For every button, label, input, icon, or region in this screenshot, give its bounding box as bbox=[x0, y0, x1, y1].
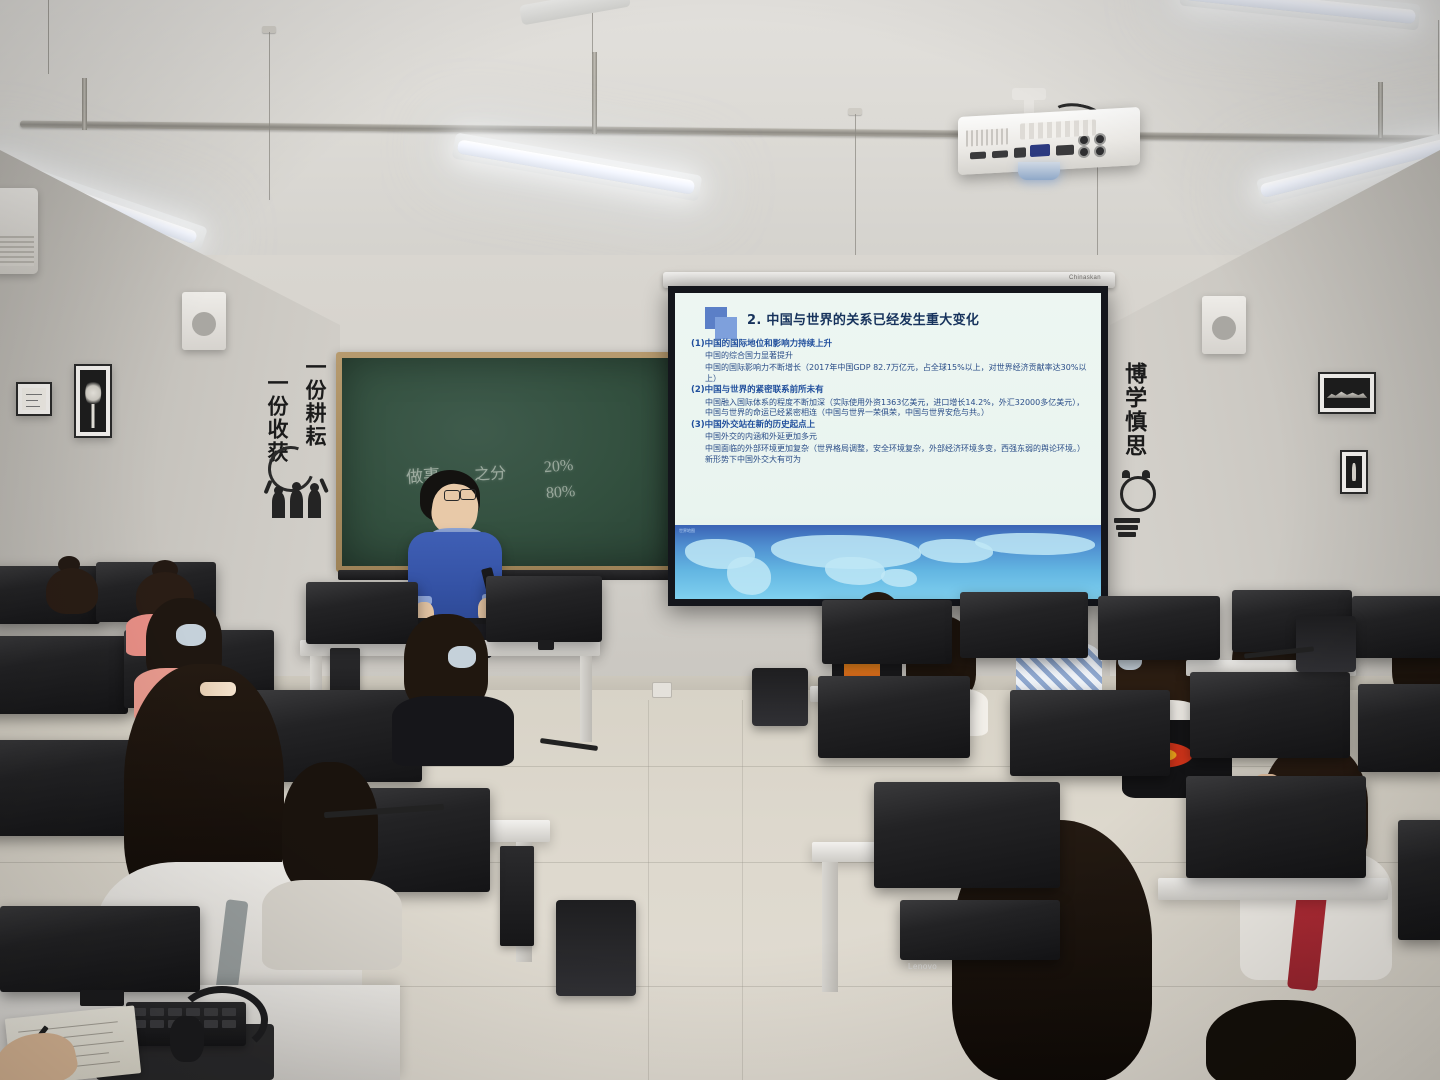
alarm-clock-graphic bbox=[1142, 470, 1150, 478]
hair-clip bbox=[200, 682, 236, 696]
chalk-note: 80% bbox=[545, 483, 576, 503]
alarm-clock-graphic bbox=[1122, 470, 1130, 478]
monitor-back bbox=[1010, 690, 1170, 776]
photo-canvas bbox=[1324, 378, 1370, 408]
alarm-clock-graphic bbox=[1120, 476, 1156, 512]
pipe-hanger bbox=[82, 78, 87, 130]
graduate-silhouette bbox=[272, 492, 285, 518]
pipe-hanger bbox=[592, 52, 597, 134]
presentation-slide: 2. 中国与世界的关系已经发生重大变化 (1)中国的国际地位和影响力持续上升 中… bbox=[675, 293, 1101, 599]
projector-vent-grille bbox=[966, 128, 1008, 146]
mountain-graphic bbox=[1327, 390, 1367, 398]
blackboard bbox=[336, 352, 680, 572]
ac-vent-grille bbox=[0, 236, 34, 266]
graduate-silhouette bbox=[292, 482, 301, 491]
framed-artwork-small bbox=[16, 382, 52, 416]
projector-port bbox=[1014, 147, 1026, 158]
projector-knob[interactable] bbox=[1094, 133, 1106, 146]
notebook-line bbox=[18, 1021, 118, 1032]
wall-power-socket[interactable] bbox=[652, 682, 672, 698]
graduate-silhouette bbox=[310, 483, 319, 492]
student-torso bbox=[392, 696, 514, 766]
chair-back bbox=[752, 668, 808, 726]
monitor-back bbox=[900, 900, 1060, 960]
wall-decal-left-column-right: 一份耕耘 bbox=[304, 356, 326, 448]
graduate-silhouette bbox=[274, 486, 283, 495]
books-graphic bbox=[1118, 532, 1136, 537]
landmass bbox=[727, 557, 771, 595]
monitor-back bbox=[960, 592, 1088, 658]
landmass bbox=[881, 569, 917, 587]
floor-tile-seam bbox=[742, 700, 743, 1080]
wall-decal-right: 博学慎思 bbox=[1122, 362, 1145, 458]
projector-lens bbox=[1018, 162, 1060, 180]
monitor-back bbox=[1186, 776, 1366, 878]
wall-speaker-right bbox=[1202, 296, 1246, 354]
floor-tile-seam bbox=[648, 700, 649, 1080]
monitor-back bbox=[1358, 684, 1440, 772]
projector-port bbox=[1056, 145, 1074, 156]
figure-graphic bbox=[1352, 463, 1356, 481]
tree-graphic bbox=[92, 404, 95, 428]
books-graphic bbox=[1116, 525, 1138, 530]
keyboard-key[interactable] bbox=[150, 1008, 164, 1016]
monitor-back bbox=[874, 782, 1060, 888]
slide-line: 中国面临的外部环境更加复杂（世界格局调整，安全环境复杂，外部经济环境多变，西强东… bbox=[691, 444, 1089, 465]
monitor-back bbox=[1352, 596, 1440, 658]
chair-back bbox=[556, 900, 636, 996]
face-mask bbox=[448, 646, 476, 668]
keyboard-key[interactable] bbox=[150, 1020, 164, 1028]
projector-knob[interactable] bbox=[1078, 146, 1090, 159]
framed-artwork-tree bbox=[74, 364, 112, 438]
landmass bbox=[825, 557, 885, 585]
monitor-back bbox=[1190, 672, 1350, 758]
slide-line: 中国的综合国力显著提升 bbox=[691, 351, 1089, 362]
monitor-stand bbox=[538, 640, 554, 650]
slide-line: 中国的国际影响力不断增长（2017年中国GDP 82.7万亿元，占全球15%以上… bbox=[691, 363, 1089, 384]
projector-port bbox=[992, 150, 1008, 158]
hanging-wire bbox=[855, 114, 856, 264]
artwork-canvas bbox=[80, 370, 106, 432]
blackboard-surface bbox=[342, 358, 674, 566]
monitor-back bbox=[0, 636, 128, 714]
pipe-hanger bbox=[1378, 82, 1383, 138]
chair-back bbox=[1296, 616, 1356, 672]
teacher-glasses bbox=[444, 490, 460, 501]
face-mask bbox=[176, 624, 206, 646]
chalk-note: 之分 bbox=[473, 459, 506, 485]
slide-line: 中国外交的内涵和外延更加多元 bbox=[691, 432, 1089, 443]
student-torso bbox=[262, 880, 402, 970]
student-hair bbox=[46, 568, 98, 614]
monitor-back bbox=[822, 600, 952, 664]
slide-heading: (3)中国外交站在新的历史起点上 bbox=[691, 420, 1089, 431]
hanging-wire bbox=[48, 0, 49, 74]
projector-port bbox=[970, 152, 986, 160]
map-caption: 世界地图 bbox=[679, 528, 695, 534]
wall-speaker-left bbox=[182, 292, 226, 350]
slide-heading: (1)中国的国际地位和影响力持续上升 bbox=[691, 339, 1089, 350]
projector-knob[interactable] bbox=[1094, 145, 1106, 158]
tree-graphic bbox=[85, 379, 101, 408]
monitor-back bbox=[1098, 596, 1220, 660]
projector-vga-port bbox=[1030, 144, 1050, 157]
monitor-back bbox=[486, 576, 602, 642]
student-hair bbox=[1206, 1000, 1356, 1080]
landmass bbox=[975, 533, 1095, 555]
monitor-brand-label: Lenovo bbox=[908, 962, 937, 971]
framed-photo-landscape bbox=[1318, 372, 1376, 414]
classroom-scene: 做事 之分 20% 80% Chinaskan 2. 中国与世界的关系已经发生重… bbox=[0, 0, 1440, 1080]
slide-accent-square bbox=[715, 317, 737, 339]
graduate-silhouette bbox=[290, 490, 303, 518]
monitor-back bbox=[0, 906, 200, 992]
speaker-cone bbox=[1212, 316, 1236, 340]
headphone-earcup[interactable] bbox=[170, 1016, 204, 1062]
desk-leg bbox=[580, 656, 592, 742]
photo-canvas bbox=[1346, 456, 1362, 488]
framed-photo-portrait bbox=[1340, 450, 1368, 494]
speaker-cone bbox=[192, 312, 216, 336]
books-graphic bbox=[1114, 518, 1140, 523]
student-desk bbox=[1158, 878, 1388, 900]
desk-leg bbox=[822, 862, 838, 992]
monitor-back bbox=[818, 676, 970, 758]
slide-line: 中国融入国际体系的程度不断加深（实际使用外资1363亿美元，进口增长14.2%，… bbox=[691, 398, 1089, 419]
slide-heading: (2)中国与世界的紧密联系前所未有 bbox=[691, 385, 1089, 396]
pc-tower bbox=[500, 846, 534, 946]
world-map-graphic: 世界地图 bbox=[675, 525, 1101, 599]
hanging-wire bbox=[269, 32, 270, 200]
teacher-glasses bbox=[460, 489, 476, 500]
monitor-back bbox=[306, 582, 418, 644]
artwork-canvas bbox=[22, 388, 46, 410]
monitor-back bbox=[1398, 820, 1440, 940]
chalk-note: 20% bbox=[543, 457, 574, 477]
screen-brand-label: Chinaskan bbox=[1069, 275, 1101, 281]
graduate-silhouette bbox=[308, 490, 321, 518]
slide-body: (1)中国的国际地位和影响力持续上升 中国的综合国力显著提升 中国的国际影响力不… bbox=[691, 339, 1089, 466]
monitor-stand bbox=[80, 990, 124, 1006]
slide-title: 2. 中国与世界的关系已经发生重大变化 bbox=[747, 309, 1087, 328]
student-hair bbox=[282, 762, 378, 892]
